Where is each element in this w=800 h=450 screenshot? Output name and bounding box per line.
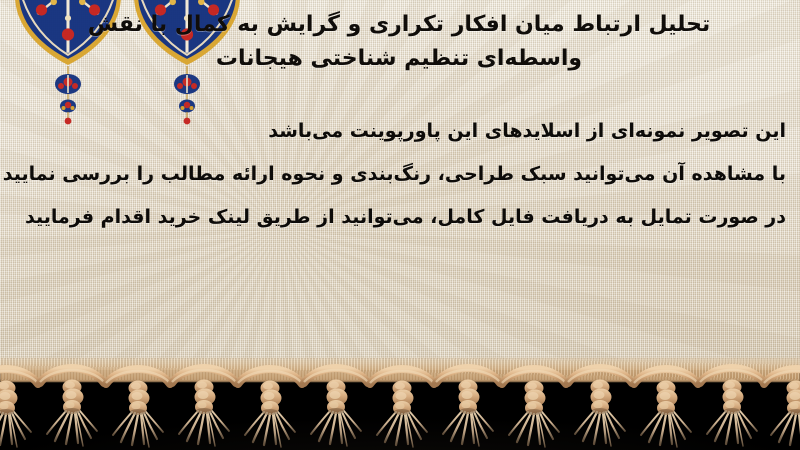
carpet-selvedge-edge — [0, 356, 800, 382]
slide-body-line-3: در صورت تمایل به دریافت فایل کامل، می‌تو… — [10, 196, 786, 239]
slide-body-line-2: با مشاهده آن می‌توانید سبک طراحی، رنگ‌بن… — [10, 153, 786, 196]
slide-body: این تصویر نمونه‌ای از اسلایدهای این پاور… — [10, 110, 786, 239]
powerpoint-slide: تحلیل ارتباط میان افکار تکراری و گرایش ب… — [0, 0, 800, 450]
black-footer-band — [0, 370, 800, 450]
slide-title-line-2: واسطه‌ای تنظیم شناختی هیجانات — [14, 42, 784, 76]
slide-body-line-1: این تصویر نمونه‌ای از اسلایدهای این پاور… — [10, 110, 786, 153]
slide-title: تحلیل ارتباط میان افکار تکراری و گرایش ب… — [14, 8, 784, 76]
slide-text-layer: تحلیل ارتباط میان افکار تکراری و گرایش ب… — [0, 0, 800, 380]
slide-title-line-1: تحلیل ارتباط میان افکار تکراری و گرایش ب… — [14, 8, 784, 42]
